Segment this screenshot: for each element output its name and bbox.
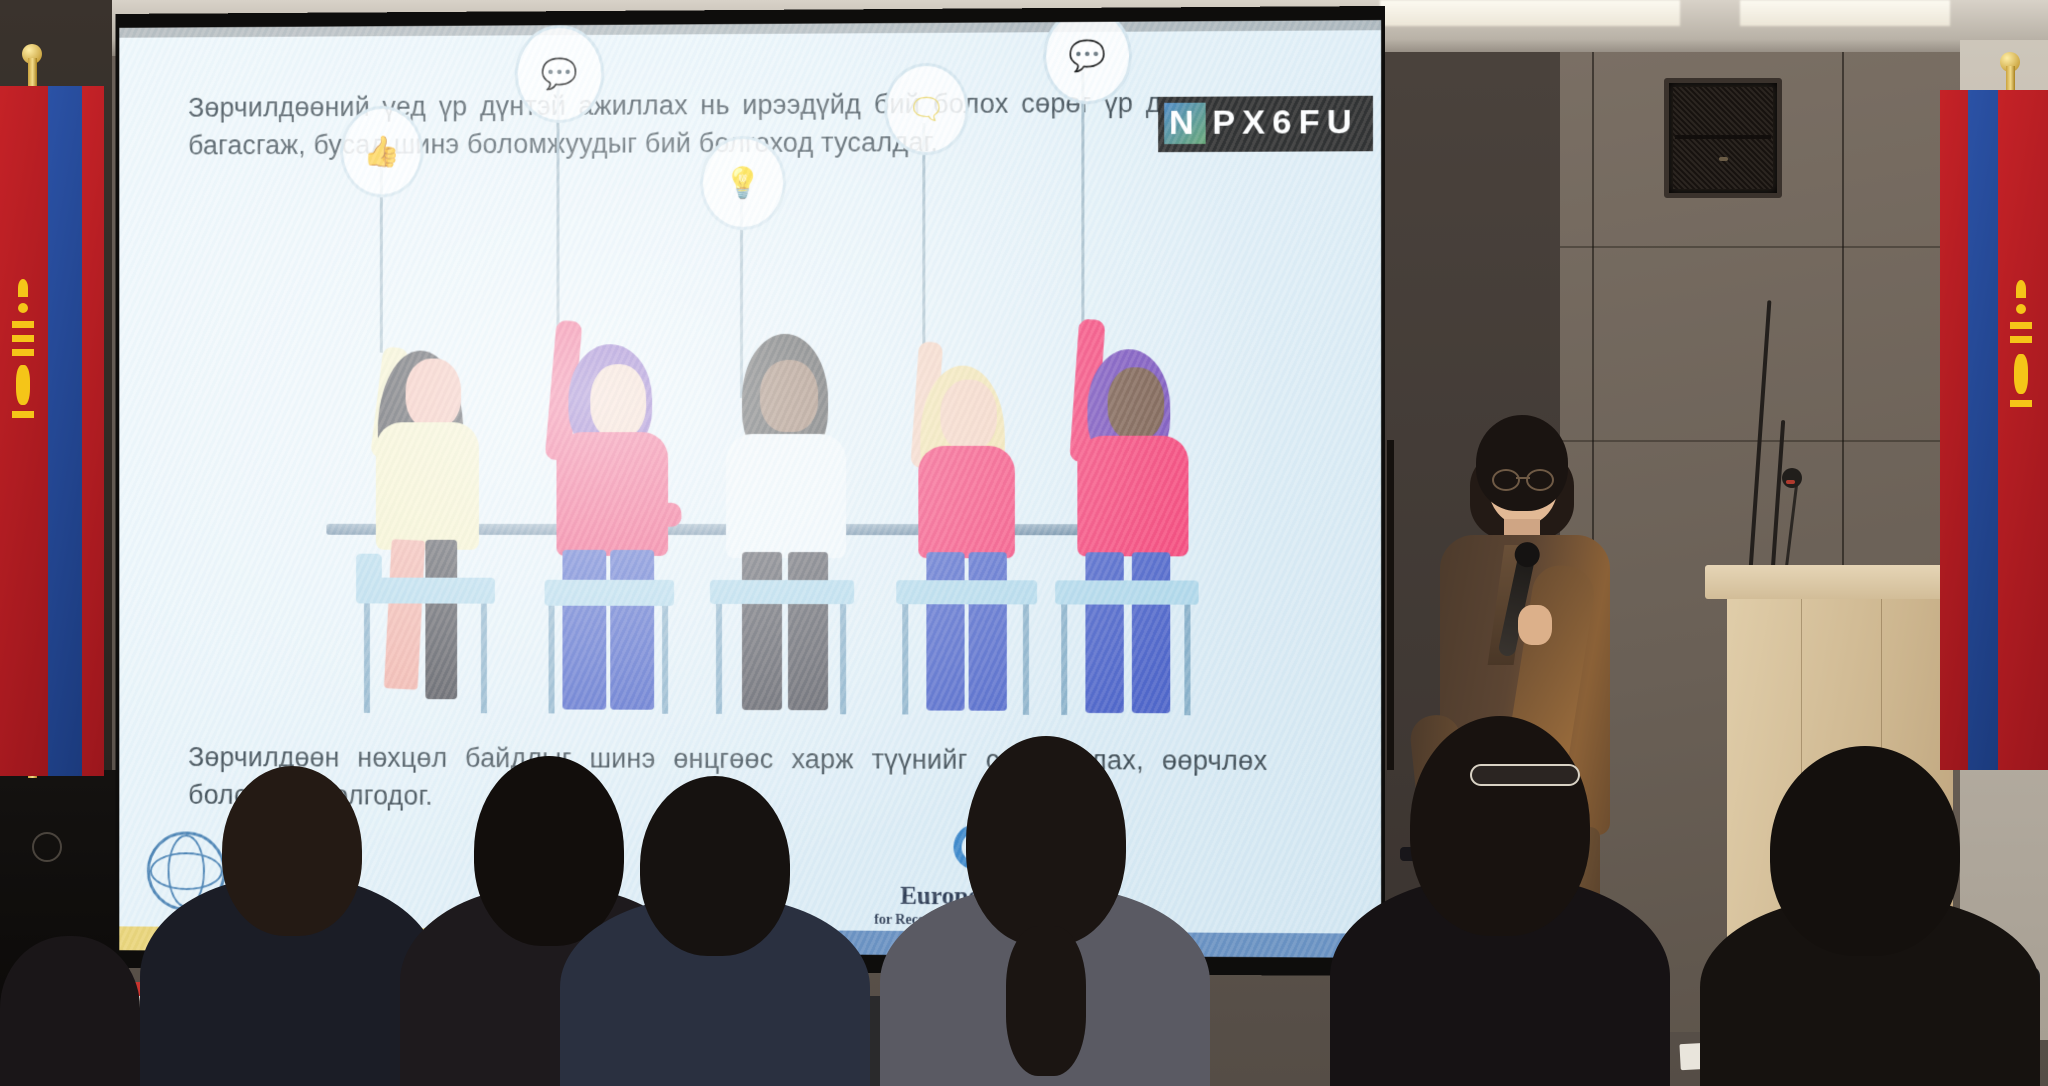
illustration-figure-3: 💡 (684, 254, 864, 735)
illustration-figure-4: 🗨 (864, 253, 1045, 735)
speaker-slot (1675, 135, 1771, 139)
chair-leg (1184, 605, 1190, 716)
screen-top-shadow (119, 20, 1381, 38)
sign-stick (922, 123, 925, 354)
speech-bubble-1: 👍 (340, 106, 423, 198)
soyombo-symbol (10, 279, 36, 439)
attendee-4 (880, 736, 1210, 1086)
resting-arm (611, 502, 682, 530)
attendee-6 (1700, 746, 2040, 1086)
mongolian-flag (0, 86, 104, 776)
panel-seam (1842, 52, 1844, 652)
speaker-badge (1719, 157, 1728, 161)
soyombo-bar (12, 321, 34, 328)
soyombo-bar (2010, 322, 2032, 329)
soyombo-symbol (2008, 280, 2034, 440)
attendee-1 (140, 786, 440, 1086)
attendee-5 (1330, 726, 1670, 1086)
lightbulb-icon: 💡 (724, 165, 761, 200)
attendee-head (1410, 716, 1590, 936)
flag-stripe-red (82, 86, 104, 776)
attendee-shoulders (0, 936, 140, 1086)
head (1108, 367, 1165, 439)
chair-back (356, 554, 382, 584)
chair (539, 554, 678, 714)
attendee-3 (560, 796, 870, 1086)
torso (557, 432, 669, 556)
soyombo-bar (12, 349, 34, 356)
soyombo-bar (12, 335, 34, 342)
attendee-head (1770, 746, 1960, 956)
glasses-lens-right (1526, 469, 1554, 491)
illustration-figure-1: 👍 (326, 255, 494, 733)
speech-bubble-3: 💡 (700, 136, 786, 230)
soyombo-bar (2010, 336, 2032, 343)
presenter-glasses (1492, 469, 1554, 487)
speech-icon: 💬 (1069, 38, 1107, 73)
chair-leg (1061, 604, 1067, 714)
soyombo-yinyang (16, 365, 30, 405)
torso (726, 434, 846, 558)
join-code-first-letter: N (1164, 103, 1206, 144)
chair-leg (902, 604, 908, 714)
panel-seam-horizontal (1560, 246, 1980, 248)
flag-stripe-red (1940, 90, 1968, 770)
flag-stripe-blue (1968, 90, 1998, 770)
attendee-ponytail (1006, 926, 1086, 1076)
ceiling-light-secondary (1740, 0, 1950, 26)
soyombo-flame (2016, 280, 2026, 298)
speech-icon: 🗨 (907, 91, 945, 126)
chair (1055, 554, 1198, 715)
soyombo-flame (18, 279, 28, 297)
speech-icon: 💬 (541, 56, 578, 91)
hair-clip (1470, 764, 1580, 786)
presenter-hair (1476, 415, 1568, 511)
head (760, 360, 818, 432)
attendee-7 (0, 916, 140, 1086)
soyombo-sun (18, 303, 28, 313)
podium-microphone (1782, 468, 1802, 488)
mic-red-band (1786, 480, 1795, 484)
thumbs-up-icon: 👍 (363, 134, 400, 169)
head (406, 358, 462, 428)
door-edge (1387, 440, 1394, 770)
chair-leg (840, 604, 846, 714)
chair-leg (716, 604, 722, 714)
speaker-knob (32, 832, 62, 862)
mongolian-flag (1940, 90, 2048, 770)
slide-illustration: 👍 💬 (238, 172, 1248, 736)
sign-stick (1081, 72, 1084, 323)
wall-speaker (1664, 78, 1782, 198)
flag-stripe-blue (48, 86, 82, 776)
chair (710, 554, 854, 714)
attendee-head (640, 776, 790, 956)
chair-seat (710, 580, 854, 604)
chair (896, 554, 1037, 715)
head (940, 380, 996, 450)
speech-bubble-2: 💬 (515, 25, 605, 123)
chair-leg (481, 604, 487, 714)
presentation-join-code: N PX6FU (1158, 96, 1373, 152)
attendee-head (222, 766, 362, 936)
illustration-figure-2: 💬 (505, 254, 684, 734)
torso (1077, 436, 1188, 557)
presenter-hand (1518, 605, 1552, 645)
chair (356, 554, 495, 714)
head (590, 364, 646, 438)
chair-seat (896, 580, 1037, 604)
soyombo-sun (2016, 304, 2026, 314)
screenshot-root: Зөрчилдөөний үед үр дүнтэй ажиллах нь ир… (0, 0, 2048, 1086)
chair-leg (364, 603, 370, 712)
ceiling-light (1380, 0, 1680, 26)
chair-seat (545, 580, 675, 606)
chair-leg (662, 606, 668, 714)
torso (918, 446, 1015, 558)
attendee-head (966, 736, 1126, 946)
join-code-rest: PX6FU (1212, 103, 1359, 143)
glasses-lens-left (1492, 469, 1520, 491)
chair-seat (1055, 580, 1198, 604)
podium-top (1705, 565, 1975, 599)
illustration-figure-5: 💬 (1025, 253, 1207, 736)
soyombo-bar (2010, 400, 2032, 407)
chair-leg (549, 606, 555, 714)
glasses-bridge (1516, 477, 1530, 479)
torso (376, 422, 479, 550)
soyombo-yinyang (2014, 354, 2028, 394)
speech-bubble-4: 🗨 (884, 63, 968, 156)
soyombo-bar (12, 411, 34, 418)
